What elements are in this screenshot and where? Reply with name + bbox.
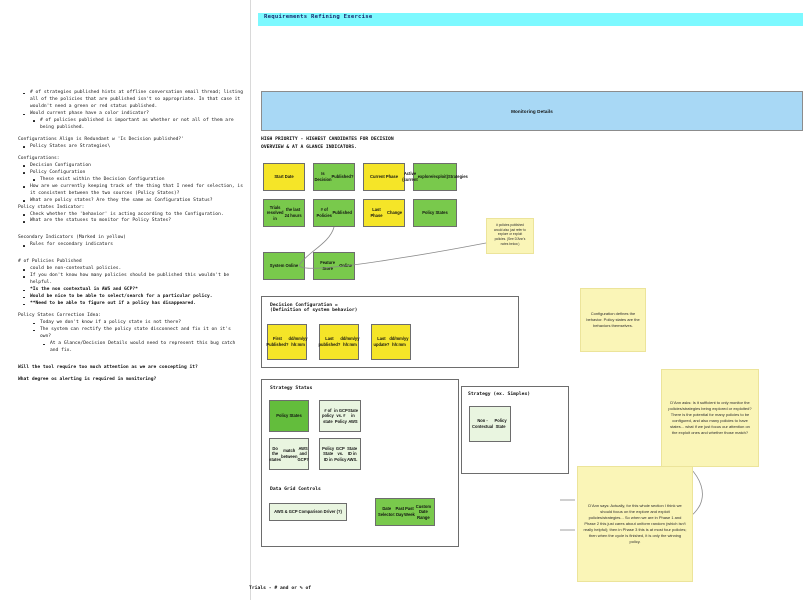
card-line: Policy State ID in	[322, 446, 334, 463]
card-line: State ID in AWS.	[346, 446, 358, 463]
notes-block-1-sub: # of policies published is important as …	[26, 118, 244, 132]
decision-config-card-2[interactable]: Last update?dd/mm/yy hh:mm	[371, 324, 411, 360]
card-line: Feature Store	[316, 260, 339, 271]
card-line: # of Policies	[316, 207, 332, 218]
indicator-card-6[interactable]: Last PhaseChange	[363, 199, 405, 227]
strategy-panel-card-0[interactable]: Non - ContextualPolicy State	[469, 406, 511, 442]
indicator-card-9[interactable]: Feature StoreOnline	[313, 252, 355, 280]
list-item: These exist within the Decision Configur…	[36, 177, 244, 184]
notes-secondary-list: Rules for secondary indicators	[18, 242, 244, 249]
card-line: Policy State	[493, 418, 508, 429]
sticky-note-dann-asks[interactable]: D'Ann asks: Is it sufficient to only mon…	[661, 369, 759, 467]
list-item: If you don't know how many policies shou…	[26, 273, 244, 287]
strategy-status-card-0[interactable]: Policy States	[269, 400, 309, 432]
card-line: Custom Date Range	[415, 504, 432, 521]
card-line: Date Selector:	[378, 506, 396, 517]
card-line: Past Week	[404, 506, 415, 517]
card-line: explore/exploit)	[418, 174, 448, 180]
data-grid-card-0[interactable]: AWS & GCP Comparison Driver (?)	[269, 503, 347, 521]
sticky-note-policies-published[interactable]: # policies published would also just ref…	[486, 218, 534, 254]
card-line: Do the states	[269, 446, 281, 463]
list-item: At a Glance/Decision Details would need …	[46, 341, 244, 355]
card-line: Trials resolved in	[266, 205, 284, 222]
card-line: AWS and GCP?	[297, 446, 308, 463]
card-line: Last update?	[373, 336, 389, 347]
indicator-card-5[interactable]: # of PoliciesPublished	[313, 199, 355, 227]
indicator-card-8[interactable]: System Online	[263, 252, 305, 280]
strategy-status-card-2[interactable]: Do the statesmatch betweenAWS and GCP?	[269, 438, 309, 470]
card-line: dd/mm/yy hh:mm	[389, 336, 408, 347]
notes-closing-question-2: What degree os alerting is required in m…	[18, 377, 244, 384]
notes-redundant-list: Policy States are Strategies\	[18, 144, 244, 151]
indicator-card-7[interactable]: Policy States	[413, 199, 457, 227]
notes-published-list: could be non-contextual policies. If you…	[18, 266, 244, 308]
data-grid-card-1[interactable]: Date Selector:Past DayPast WeekCustom Da…	[375, 498, 435, 526]
card-line: Past Day	[396, 506, 405, 517]
indicator-card-2[interactable]: Current Phase	[363, 163, 405, 191]
card-line: dd/mm/yy hh:mm	[288, 336, 307, 347]
left-notes-panel: # of strategies published hints at offli…	[18, 90, 244, 384]
list-item: Rules for secondary indicators	[26, 242, 244, 249]
list-item: What are the statuses to monitor for Pol…	[26, 218, 244, 225]
card-line: dd/mm/yy hh:mm	[340, 336, 359, 347]
strategy-status-card-1[interactable]: # of policy statein GCP vs. # PolicyStat…	[319, 400, 361, 432]
sticky-note-configuration-defines[interactable]: Configuration defines the behavior. Poli…	[580, 288, 646, 352]
monitoring-details-banner[interactable]: Monitoring Details	[261, 91, 803, 131]
notes-correction-sub: Today we don't know if a policy state is…	[26, 320, 244, 355]
column-divider	[250, 0, 251, 600]
strategy-simplex-title: Strategy (ex. Simplex)	[468, 392, 530, 397]
card-line: Online	[339, 263, 352, 269]
card-line: Non - Contextual	[472, 418, 493, 429]
card-line: Published?	[332, 174, 354, 180]
card-line: State in AWS	[348, 408, 358, 425]
notes-closing-question-1: Will the tool require too much attention…	[18, 365, 244, 372]
card-line: Current Phase	[370, 174, 398, 180]
list-item: # of policies published is important as …	[36, 118, 244, 132]
card-line: First Published?	[266, 336, 288, 347]
strategy-status-card-3[interactable]: Policy State ID inGCP vs. PolicyState ID…	[319, 438, 361, 470]
list-item: Decision Configuration	[26, 163, 244, 170]
indicator-card-4[interactable]: Trials resolved inthe last 24 hours	[263, 199, 305, 227]
card-line: the last 24 hours	[284, 207, 302, 218]
card-line: Active (current	[402, 171, 417, 182]
decision-config-card-0[interactable]: First Published?dd/mm/yy hh:mm	[267, 324, 307, 360]
notes-correction-sub2: At a Glance/Decision Details would need …	[36, 341, 244, 355]
list-item: Policy States are Strategies\	[26, 144, 244, 151]
indicator-card-1[interactable]: Is DecisionPublished?	[313, 163, 355, 191]
list-item: What are policy states? Are they the sam…	[26, 198, 244, 205]
notes-heading-configurations: Configurations:	[18, 156, 244, 163]
card-line: GCP vs. Policy	[334, 446, 346, 463]
monitoring-details-label: Monitoring Details	[511, 109, 553, 114]
notes-configurations-sub: These exist within the Decision Configur…	[26, 177, 244, 184]
whiteboard-canvas: Requirements Refining Exercise # of stra…	[0, 0, 803, 600]
card-line: Last Phase	[366, 207, 387, 218]
notes-block-1: # of strategies published hints at offli…	[18, 90, 244, 132]
card-line: # of policy state	[322, 408, 334, 425]
sticky-note-dann-says[interactable]: D'Ann says: Actually, for this whole sec…	[577, 466, 693, 582]
card-line: in GCP vs. # Policy	[334, 408, 348, 425]
list-item: **Need to be able to figure out if a pol…	[26, 301, 244, 308]
card-line: Policy States	[276, 413, 301, 419]
high-priority-caption: HIGH PRIORITY - HIGHEST CANDIDATES FOR D…	[261, 136, 394, 151]
list-item: # of strategies published hints at offli…	[26, 90, 244, 111]
card-line: Last published?	[319, 336, 341, 347]
list-item: How are we currently keeping track of th…	[26, 184, 244, 198]
list-item: Policy Configuration	[26, 170, 244, 177]
card-line: Change	[387, 210, 402, 216]
notes-configurations-list: Decision Configuration Policy Configurat…	[18, 163, 244, 205]
indicator-card-0[interactable]: Start Date	[263, 163, 305, 191]
page-title: Requirements Refining Exercise	[264, 14, 373, 20]
card-line: match between	[281, 448, 297, 459]
card-line: Policy States	[422, 210, 447, 216]
notes-correction-list: Today we don't know if a policy state is…	[18, 320, 244, 355]
list-item: The system can rectify the policy state …	[36, 327, 244, 341]
footer-trials-label: Trials - # and or % of	[249, 586, 311, 591]
decision-config-card-1[interactable]: Last published?dd/mm/yy hh:mm	[319, 324, 359, 360]
strategy-status-title: Strategy Status	[270, 386, 312, 391]
card-line: Start Date	[274, 174, 293, 180]
data-grid-controls-title: Data Grid Controls	[270, 487, 321, 492]
notes-heading-policy-states: Policy states Indicator:	[18, 205, 244, 212]
notes-heading-redundant: Configurations Align is Redundant w 'Is …	[18, 137, 244, 144]
card-line: System Online	[270, 263, 298, 269]
card-line: Published	[332, 210, 352, 216]
notes-policy-states-list: Check whether the 'behavior' is acting a…	[18, 212, 244, 226]
indicator-card-3[interactable]: Active (currentexplore/exploit)Strategie…	[413, 163, 457, 191]
card-line: AWS & GCP Comparison Driver (?)	[274, 509, 342, 515]
decision-configuration-title: Decision Configuration = (Definition of …	[270, 303, 358, 313]
card-line: Strategies	[448, 174, 468, 180]
card-line: Is Decision	[314, 171, 331, 182]
list-item: Would current phase have a color indicat…	[26, 111, 244, 118]
